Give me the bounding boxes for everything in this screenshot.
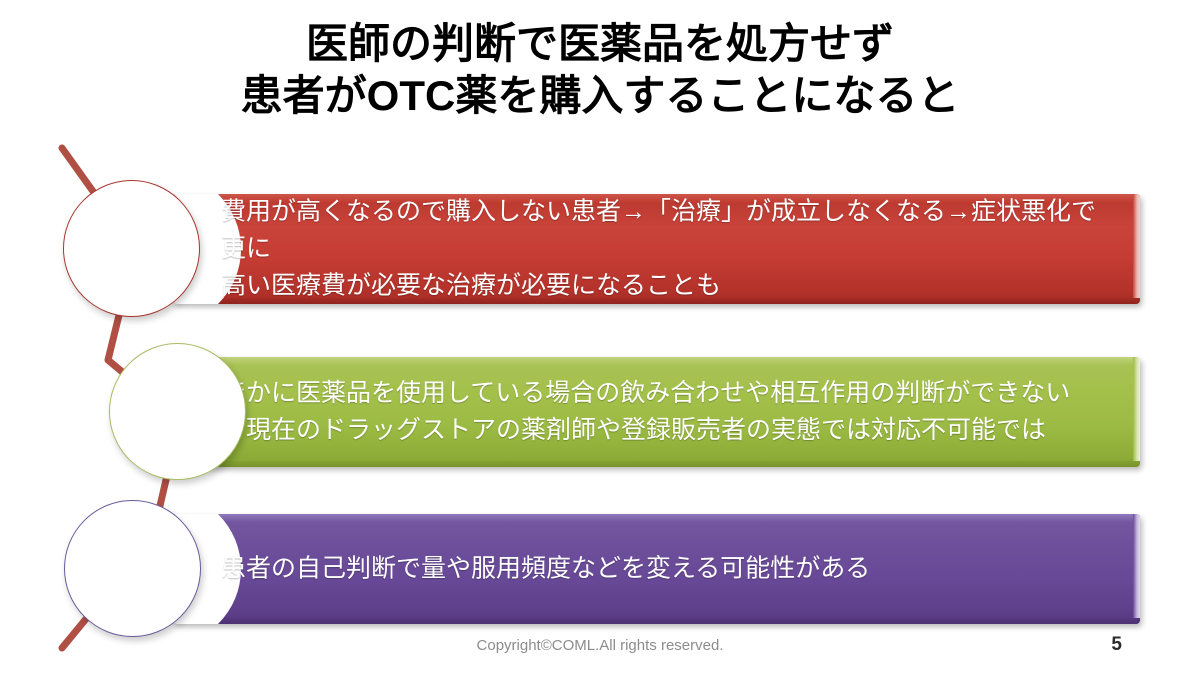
banner-top-bevel: [173, 357, 1140, 366]
page-title: 医師の判断で医薬品を処方せず 患者がOTC薬を購入することになると: [0, 18, 1200, 122]
banner-bottom-bevel: [173, 618, 1140, 624]
banner-purple[interactable]: 患者の自己判断で量や服用頻度などを変える可能性がある: [173, 514, 1140, 624]
banner-text-purple: 患者の自己判断で量や服用頻度などを変える可能性がある: [221, 551, 1116, 588]
banner-bottom-bevel: [173, 461, 1140, 467]
banner-top-bevel: [173, 514, 1140, 523]
banner-right-bevel: [1133, 194, 1140, 304]
banner-right-bevel: [1133, 357, 1140, 467]
banner-right-bevel: [1133, 514, 1140, 624]
page-number: 5: [1111, 634, 1122, 656]
bullet-circle-purple[interactable]: [64, 500, 201, 637]
bullet-circle-green[interactable]: [109, 343, 246, 480]
banner-red[interactable]: 費用が高くなるので購入しない患者→「治療」が成立しなくなる→症状悪化で更に 高い…: [173, 194, 1140, 304]
slide-canvas: 医師の判断で医薬品を処方せず 患者がOTC薬を購入することになると 費用が高くな…: [0, 0, 1200, 678]
bullet-circle-red[interactable]: [63, 180, 200, 317]
footer-copyright: Copyright©COML.All rights reserved.: [0, 637, 1200, 654]
banner-text-green: ほかに医薬品を使用している場合の飲み合わせや相互作用の判断ができない →現在のド…: [221, 375, 1116, 449]
banner-text-red: 費用が高くなるので購入しない患者→「治療」が成立しなくなる→症状悪化で更に 高い…: [221, 194, 1116, 304]
banner-green[interactable]: ほかに医薬品を使用している場合の飲み合わせや相互作用の判断ができない →現在のド…: [173, 357, 1140, 467]
